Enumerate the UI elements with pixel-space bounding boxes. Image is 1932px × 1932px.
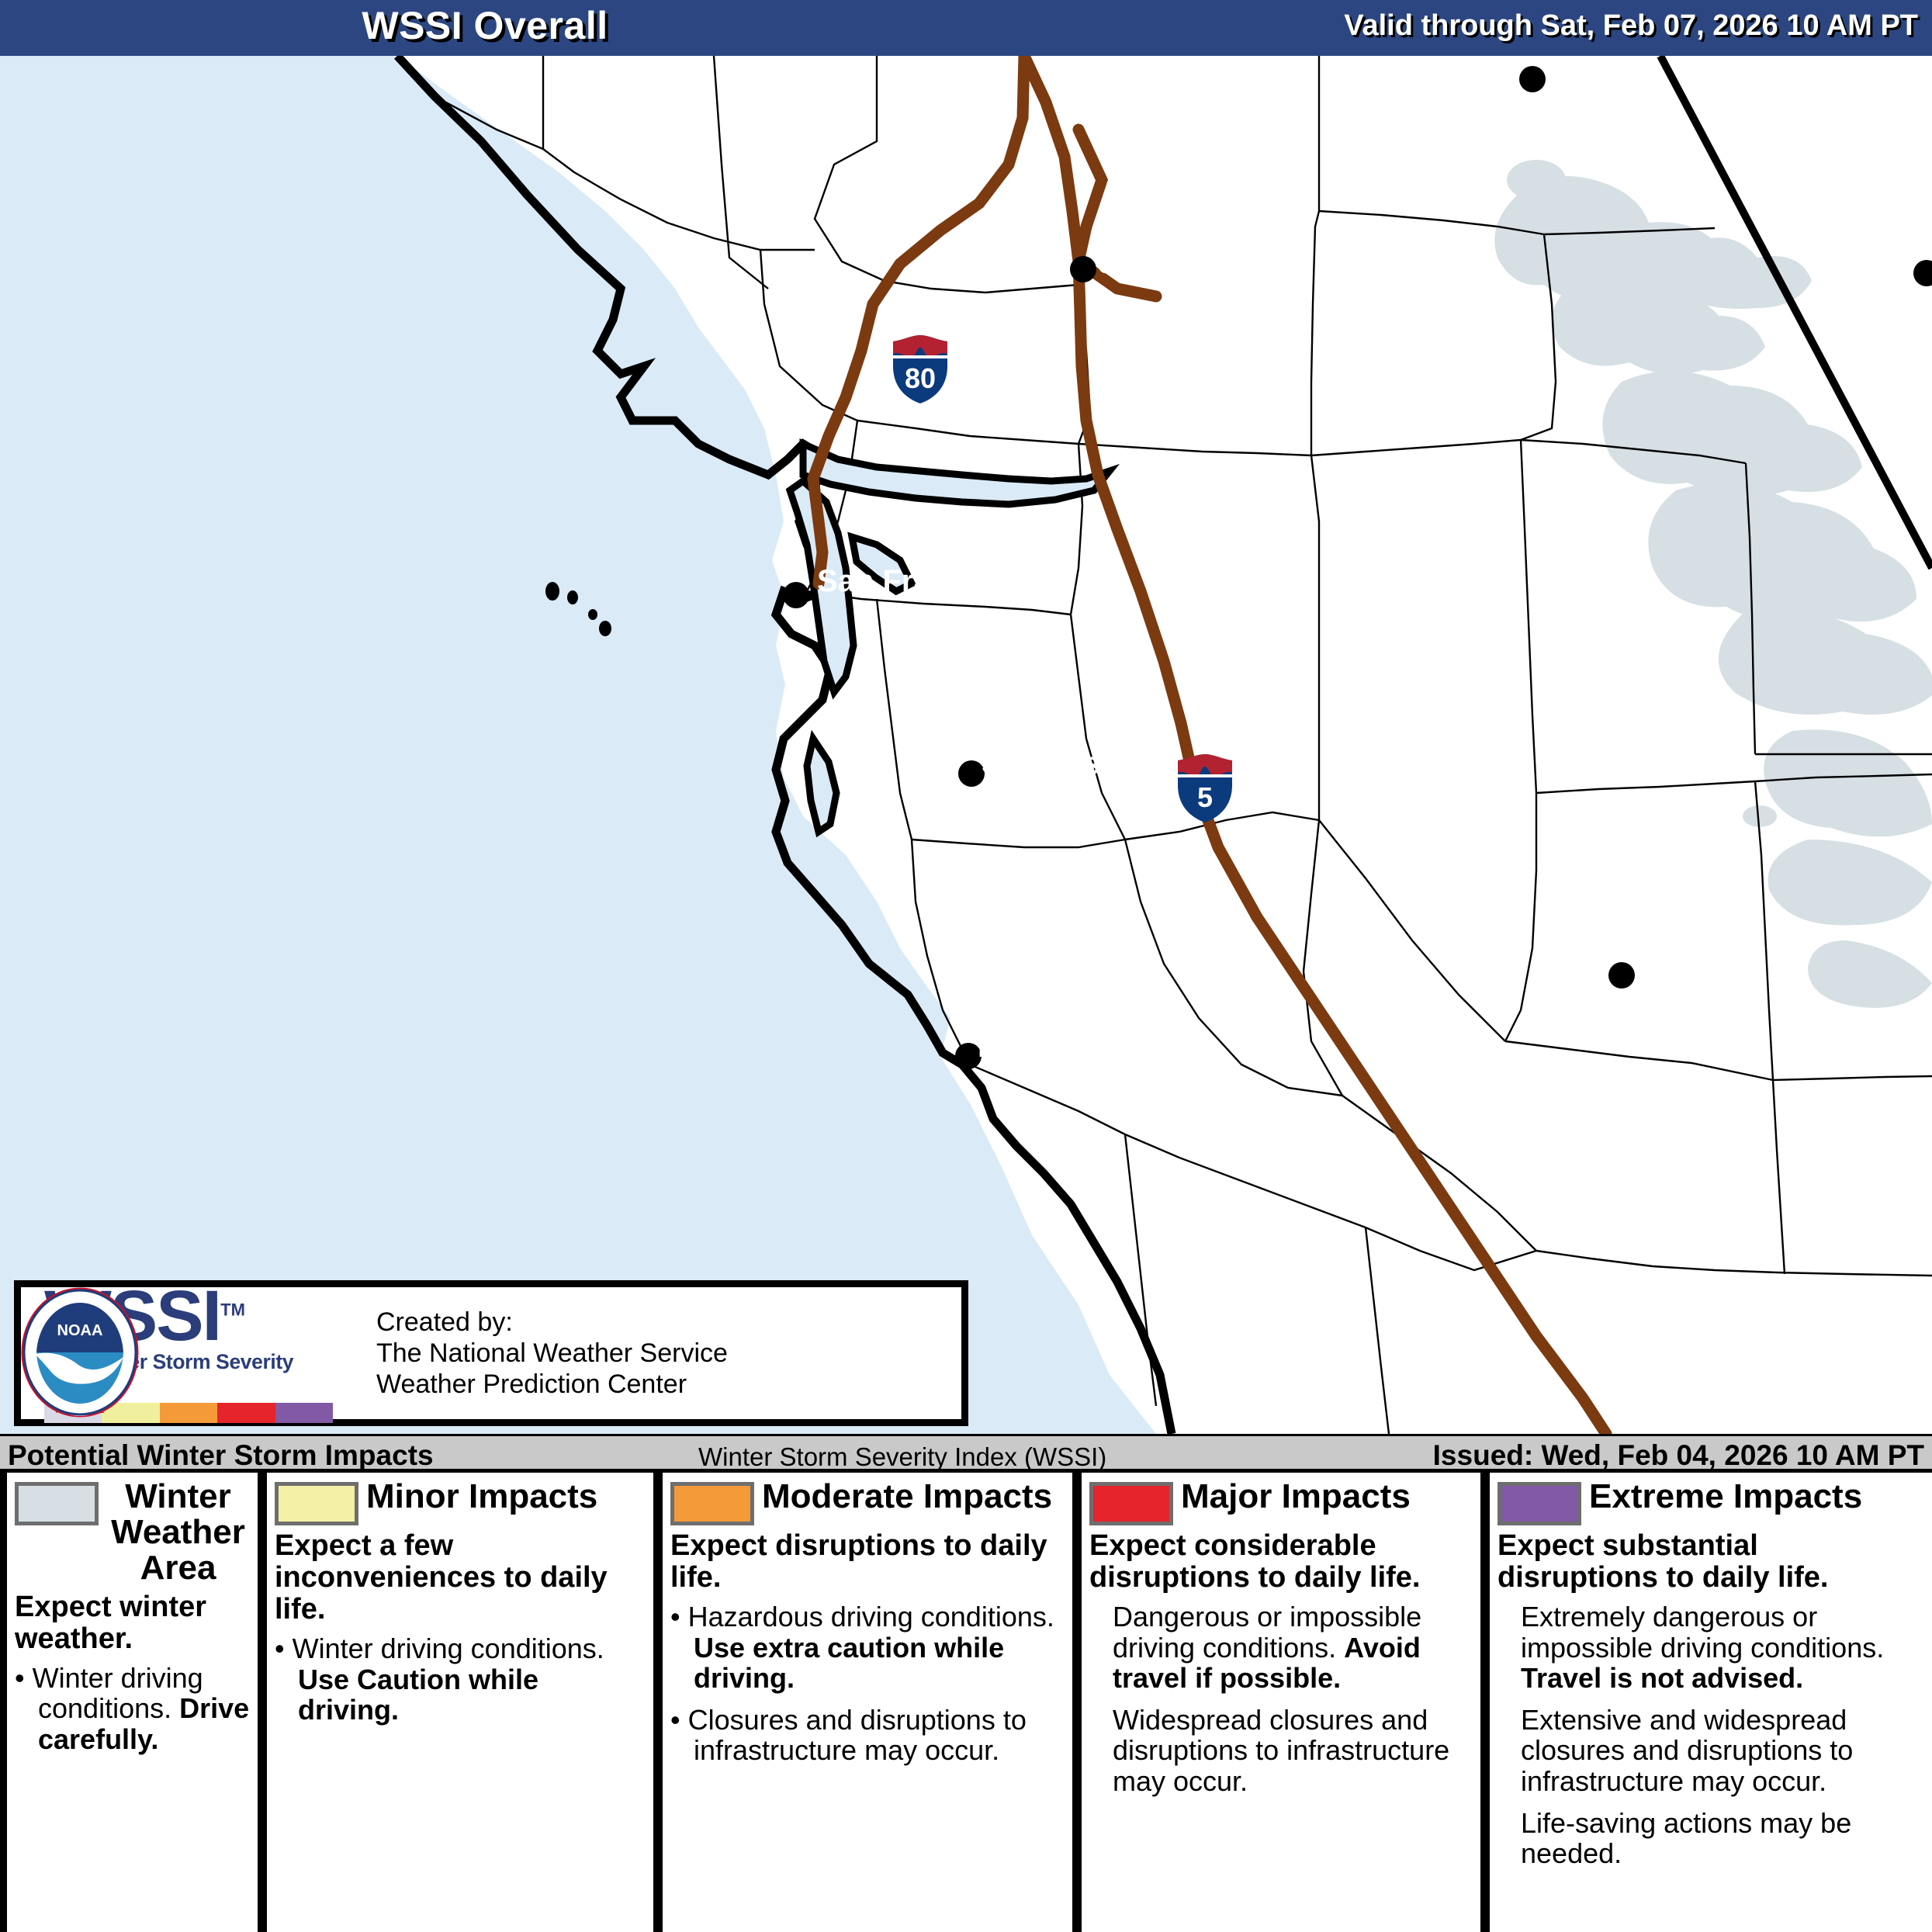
map-geometry <box>0 56 1932 1434</box>
interstate-shield-5[interactable]: 5 <box>1173 753 1237 824</box>
legend-item: Extensive and widespread closures and di… <box>1497 1705 1924 1797</box>
created-by-block: Created by: The National Weather Service… <box>376 1307 728 1400</box>
legend-item: Extremely dangerous or impossible drivin… <box>1497 1601 1924 1694</box>
wssi-map-page: WSSI Overall Valid through Sat, Feb 07, … <box>0 0 1932 1932</box>
svg-text:5: 5 <box>1197 781 1213 813</box>
legend-column-extreme-impacts[interactable]: Extreme Impacts Expect substantial disru… <box>1485 1473 1932 1932</box>
legend-summary-major-impacts: Expect considerable disruptions to daily… <box>1089 1530 1473 1594</box>
legend-summary-minor-impacts: Expect a few inconveniences to daily lif… <box>275 1530 646 1626</box>
legend-items-moderate-impacts: Hazardous driving conditions. Use extra … <box>670 1601 1065 1766</box>
legend-item: Closures and disruptions to infrastructu… <box>670 1705 1065 1766</box>
legend-title-major-impacts: Major Impacts <box>1181 1479 1411 1515</box>
legend-items-winter-weather-area: Winter driving conditions. Drive careful… <box>15 1663 250 1755</box>
impact-legend: Winter Weather Area Expect winter weathe… <box>0 1473 1932 1932</box>
created-by-line-2: The National Weather Service <box>376 1338 728 1369</box>
legend-column-minor-impacts[interactable]: Minor Impacts Expect a few inconvenience… <box>262 1473 658 1932</box>
created-by-line-3: Weather Prediction Center <box>376 1369 728 1400</box>
legend-title-extreme-impacts: Extreme Impacts <box>1589 1479 1862 1515</box>
legend-item: Winter driving conditions. Drive careful… <box>15 1663 250 1755</box>
page-header: WSSI Overall Valid through Sat, Feb 07, … <box>0 0 1932 56</box>
valid-through-text: Valid through Sat, Feb 07, 2026 10 AM PT <box>1344 9 1918 43</box>
legend-swatch-major-impacts <box>1089 1482 1173 1525</box>
legend-column-moderate-impacts[interactable]: Moderate Impacts Expect disruptions to d… <box>658 1473 1077 1932</box>
page-title: WSSI Overall <box>0 3 970 48</box>
legend-header: Extreme Impacts <box>1497 1479 1924 1525</box>
legend-items-extreme-impacts: Extremely dangerous or impossible drivin… <box>1497 1601 1924 1869</box>
map-canvas[interactable]: SacramentoSacramento San FranciscoSan Fr… <box>0 56 1932 1434</box>
legend-item: Winter driving conditions. Use Caution w… <box>275 1633 646 1726</box>
status-bar: Potential Winter Storm Impacts Winter St… <box>0 1434 1932 1473</box>
legend-title-minor-impacts: Minor Impacts <box>366 1479 597 1515</box>
status-bar-left: Potential Winter Storm Impacts <box>8 1439 434 1472</box>
legend-swatch-moderate-impacts <box>670 1482 754 1525</box>
legend-item: Dangerous or impossible driving conditio… <box>1089 1601 1473 1694</box>
city-dot-san-francisco <box>783 582 809 608</box>
interstate-shield-80[interactable]: 80 <box>888 334 952 405</box>
legend-column-winter-weather-area[interactable]: Winter Weather Area Expect winter weathe… <box>0 1473 262 1932</box>
noaa-seal-icon: NOAA <box>21 1287 139 1418</box>
status-bar-right: Issued: Wed, Feb 04, 2026 10 AM PT <box>1433 1439 1924 1472</box>
legend-item: Widespread closures and disruptions to i… <box>1089 1705 1473 1797</box>
legend-title-moderate-impacts: Moderate Impacts <box>762 1479 1052 1515</box>
legend-summary-extreme-impacts: Expect substantial disruptions to daily … <box>1497 1530 1924 1594</box>
legend-swatch-winter-weather-area <box>15 1482 99 1525</box>
city-dot-sacramento <box>1070 256 1096 282</box>
trademark-mark: TM <box>220 1300 245 1319</box>
legend-swatch-extreme-impacts <box>1497 1482 1581 1525</box>
city-dot-top <box>1519 66 1546 92</box>
legend-header: Minor Impacts <box>275 1479 646 1525</box>
legend-title-winter-weather-area: Winter Weather Area <box>106 1479 250 1587</box>
created-by-line-1: Created by: <box>376 1307 728 1338</box>
legend-summary-winter-weather-area: Expect winter weather. <box>15 1591 250 1655</box>
wssi-logo-box: WSSITM The Winter Storm Severity Index W <box>14 1280 968 1426</box>
farallon-islands <box>545 582 611 636</box>
legend-header: Moderate Impacts <box>670 1479 1065 1525</box>
svg-text:80: 80 <box>905 362 936 394</box>
status-bar-middle: Winter Storm Severity Index (WSSI) <box>698 1442 1106 1472</box>
legend-item: Hazardous driving conditions. Use extra … <box>670 1601 1065 1694</box>
legend-summary-moderate-impacts: Expect disruptions to daily life. <box>670 1530 1065 1594</box>
legend-item: Life-saving actions may be needed. <box>1497 1808 1924 1869</box>
city-dot-monterey <box>955 1043 982 1069</box>
legend-items-major-impacts: Dangerous or impossible driving conditio… <box>1089 1601 1473 1797</box>
legend-column-major-impacts[interactable]: Major Impacts Expect considerable disrup… <box>1077 1473 1485 1932</box>
legend-swatch-minor-impacts <box>275 1482 358 1525</box>
legend-items-minor-impacts: Winter driving conditions. Use Caution w… <box>275 1633 646 1726</box>
legend-header: Winter Weather Area <box>15 1479 250 1587</box>
city-dot-fresno <box>1608 962 1635 989</box>
city-dot-san-jose <box>958 760 985 787</box>
svg-text:NOAA: NOAA <box>57 1322 103 1339</box>
legend-header: Major Impacts <box>1089 1479 1473 1525</box>
